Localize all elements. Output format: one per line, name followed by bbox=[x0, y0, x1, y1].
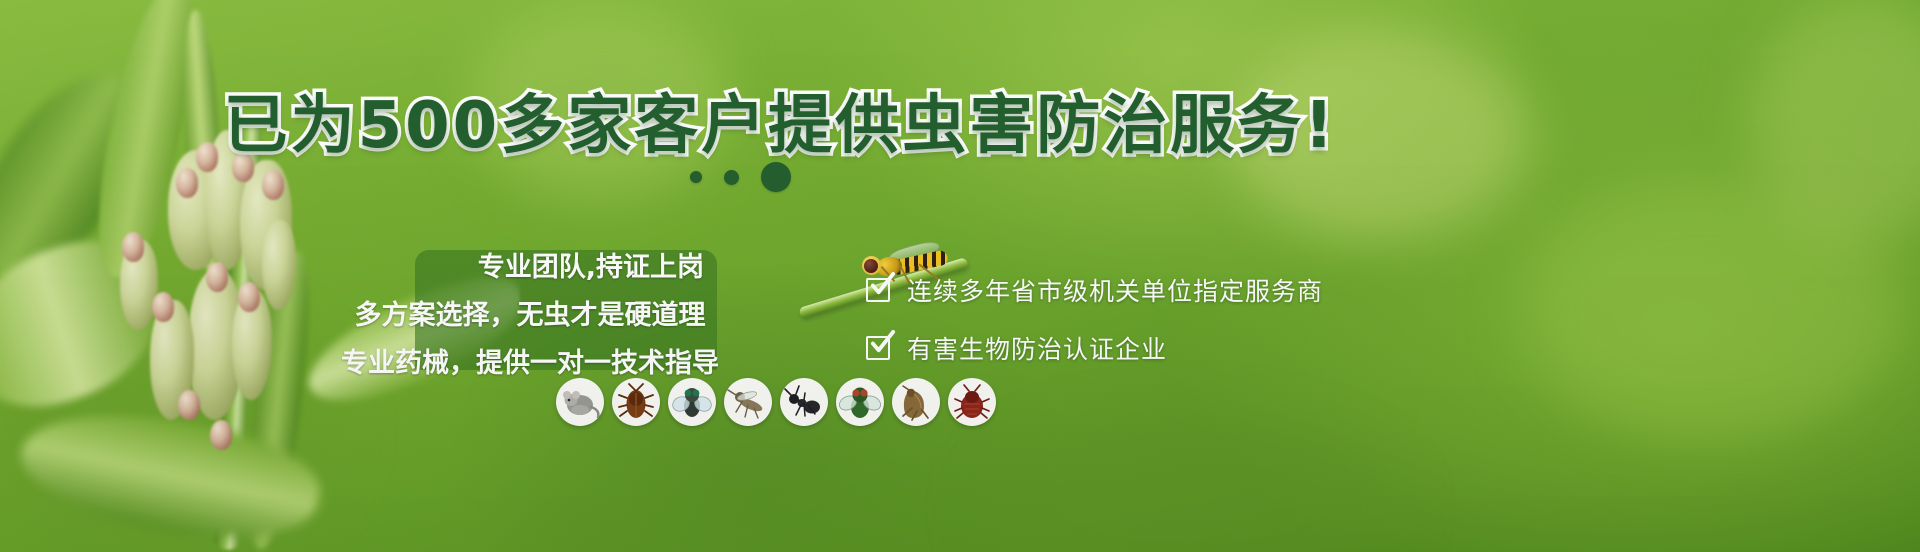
bedbug-icon[interactable] bbox=[948, 378, 996, 426]
banner-headline: 已为500多家客户提供虫害防治服务! bbox=[0, 74, 1560, 166]
checkbox-checked-icon bbox=[866, 334, 894, 362]
ant-icon[interactable] bbox=[780, 378, 828, 426]
decor-dot-medium bbox=[724, 170, 739, 185]
selling-point-line-3: 专业药械，提供一对一技术指导 bbox=[330, 341, 730, 380]
flea-icon[interactable] bbox=[892, 378, 940, 426]
mosquito-icon[interactable] bbox=[724, 378, 772, 426]
cockroach-icon[interactable] bbox=[612, 378, 660, 426]
selling-point-line-2: 多方案选择，无虫才是硬道理 bbox=[330, 293, 730, 332]
selling-points-text: 专业团队,持证上岗 多方案选择，无虫才是硬道理 专业药械，提供一对一技术指导 bbox=[330, 252, 730, 372]
banner-headline-text: 已为500多家客户提供虫害防治服务! bbox=[224, 74, 1337, 166]
feature-list: 连续多年省市级机关单位指定服务商 有害生物防治认证企业 bbox=[866, 272, 1386, 366]
selling-point-line-1: 专业团队,持证上岗 bbox=[330, 245, 730, 284]
promo-banner: 已为500多家客户提供虫害防治服务! 专业团队,持证上岗 多方案选择，无虫才是硬… bbox=[0, 0, 1920, 552]
feature-item: 连续多年省市级机关单位指定服务商 bbox=[866, 272, 1386, 308]
decorative-dots bbox=[690, 160, 870, 194]
checkbox-checked-icon bbox=[866, 276, 894, 304]
feature-item: 有害生物防治认证企业 bbox=[866, 330, 1386, 366]
rat-icon[interactable] bbox=[556, 378, 604, 426]
feature-label: 连续多年省市级机关单位指定服务商 bbox=[907, 272, 1323, 308]
decor-dot-small bbox=[690, 171, 702, 183]
blowfly-icon[interactable] bbox=[836, 378, 884, 426]
fly-icon[interactable] bbox=[668, 378, 716, 426]
pest-type-icon-row bbox=[556, 378, 996, 426]
decor-dot-large bbox=[761, 162, 791, 192]
feature-label: 有害生物防治认证企业 bbox=[907, 330, 1167, 366]
